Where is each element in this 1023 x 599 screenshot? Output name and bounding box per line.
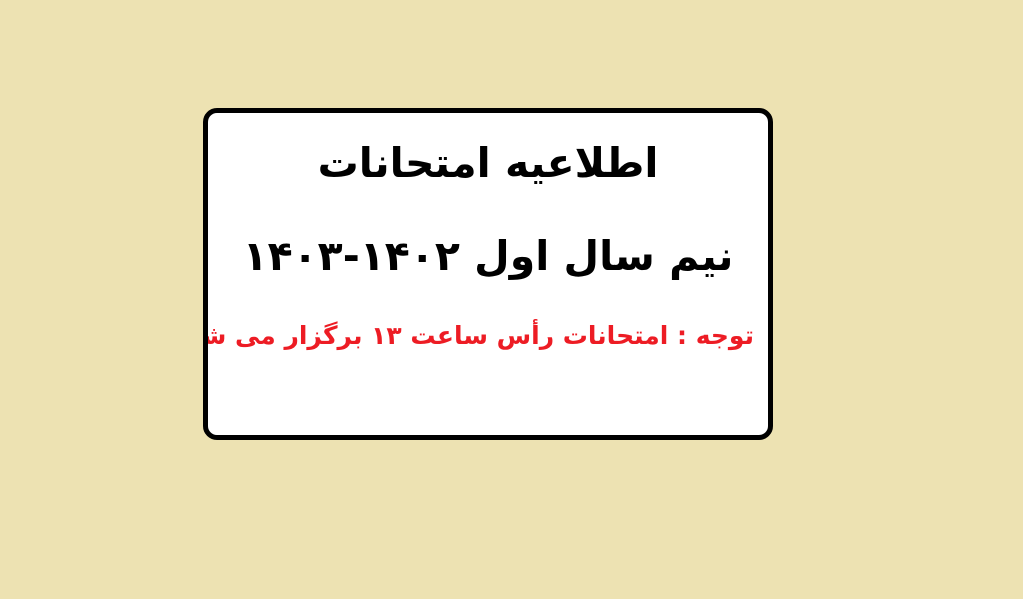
poster-canvas: اطلاعیه امتحانات نیم سال اول ۱۴۰۲-۱۴۰۳ ت… (0, 0, 1023, 599)
announcement-title: اطلاعیه امتحانات (222, 143, 754, 184)
announcement-card-content: اطلاعیه امتحانات نیم سال اول ۱۴۰۲-۱۴۰۳ ت… (208, 113, 768, 348)
announcement-card: اطلاعیه امتحانات نیم سال اول ۱۴۰۲-۱۴۰۳ ت… (203, 108, 773, 440)
announcement-notice: توجه : امتحانات رأس ساعت ۱۳ برگزار می شو… (222, 323, 754, 348)
announcement-term: نیم سال اول ۱۴۰۲-۱۴۰۳ (222, 236, 754, 277)
